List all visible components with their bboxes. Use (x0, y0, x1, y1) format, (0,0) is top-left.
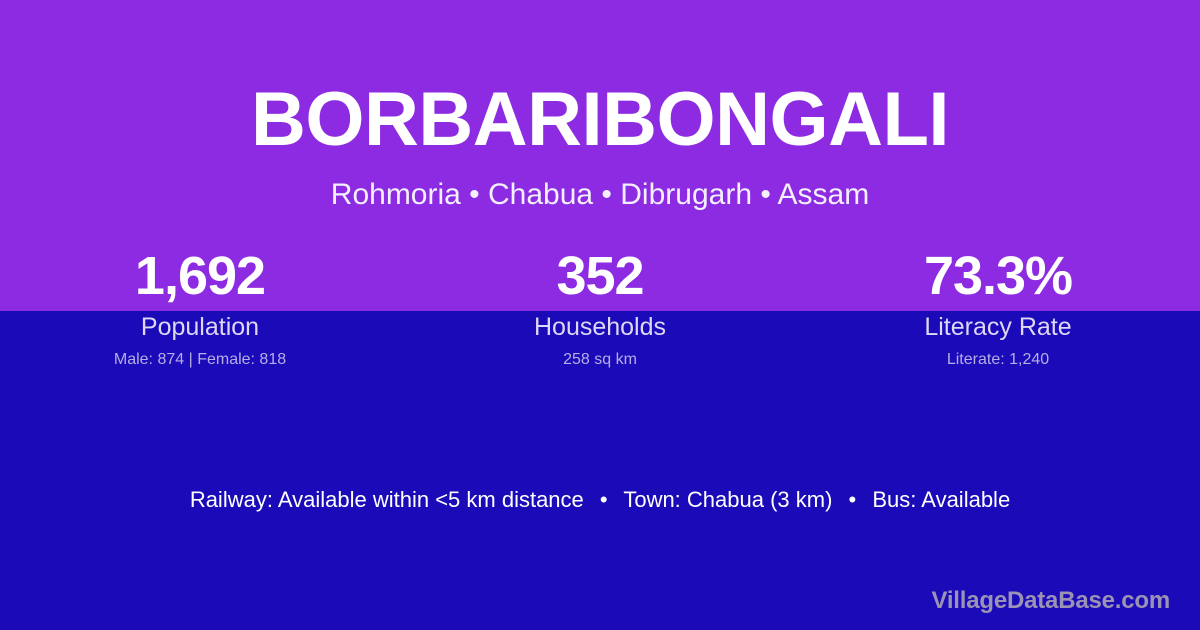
stat-sub-literacy-rate: Literate: 1,240 (798, 351, 1198, 369)
stat-sub-households: 258 sq km (400, 351, 800, 369)
info-town: Town: Chabua (3 km) (623, 487, 832, 512)
stat-sub-population: Male: 874 | Female: 818 (0, 351, 400, 369)
card-header: BORBARIBONGALI Rohmoria • Chabua • Dibru… (0, 0, 1200, 210)
stat-population: 1,692 Population Male: 874 | Female: 818 (0, 247, 400, 369)
stat-value-population: 1,692 (0, 247, 400, 305)
site-watermark: VillageDataBase.com (931, 586, 1170, 616)
stat-label-population: Population (0, 313, 400, 341)
village-info-card: BORBARIBONGALI Rohmoria • Chabua • Dibru… (0, 0, 1200, 630)
info-bus: Bus: Available (872, 487, 1010, 512)
amenities-info-line: Railway: Available within <5 km distance… (0, 485, 1200, 515)
stat-households: 352 Households 258 sq km (400, 247, 800, 369)
stat-value-households: 352 (400, 247, 800, 305)
info-railway: Railway: Available within <5 km distance (190, 487, 584, 512)
stat-literacy-rate: 73.3% Literacy Rate Literate: 1,240 (798, 247, 1198, 369)
info-separator-1: • (590, 485, 618, 515)
stat-value-literacy-rate: 73.3% (798, 247, 1198, 305)
stat-label-households: Households (400, 313, 800, 341)
stats-row: 1,692 Population Male: 874 | Female: 818… (0, 247, 1200, 369)
stat-label-literacy-rate: Literacy Rate (798, 313, 1198, 341)
page-title: BORBARIBONGALI (0, 0, 1200, 158)
info-separator-2: • (839, 485, 867, 515)
breadcrumb: Rohmoria • Chabua • Dibrugarh • Assam (0, 158, 1200, 210)
